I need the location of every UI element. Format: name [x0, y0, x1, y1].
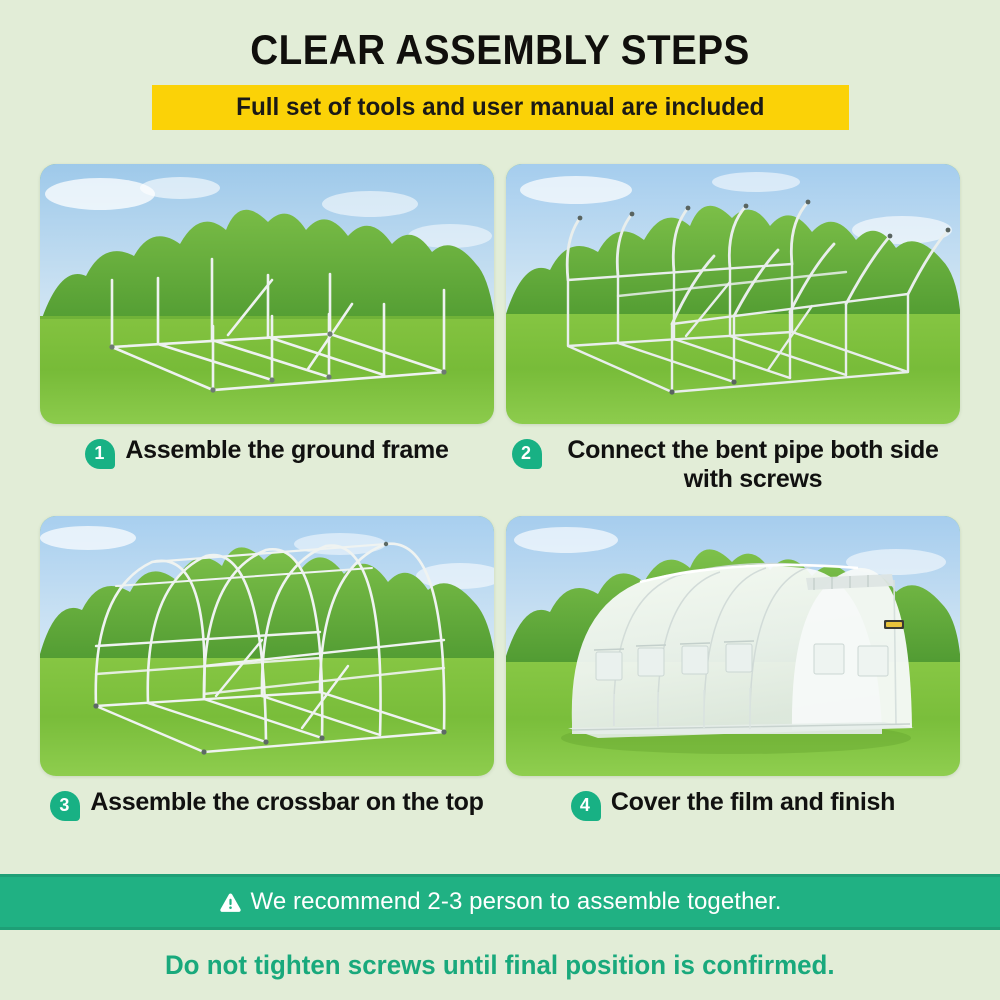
step-3-caption: 3 Assemble the crossbar on the top: [40, 788, 494, 821]
steps-row-bottom: 3 Assemble the crossbar on the top: [40, 516, 960, 821]
step-4-caption: 4 Cover the film and finish: [506, 788, 960, 821]
page-title: CLEAR ASSEMBLY STEPS: [40, 26, 960, 74]
step-4-label: Cover the film and finish: [611, 788, 895, 817]
subtitle-text: Full set of tools and user manual are in…: [236, 93, 764, 122]
step-3-photo: [40, 516, 494, 776]
footer-text: Do not tighten screws until final positi…: [165, 950, 835, 981]
step-3-number: 3: [59, 796, 69, 814]
step-2-caption: 2 Connect the bent pipe both side with s…: [506, 436, 960, 494]
step-card-4: 4 Cover the film and finish: [506, 516, 960, 821]
step-4-number: 4: [580, 796, 590, 814]
step-1-badge: 1: [85, 439, 115, 469]
step-2-badge: 2: [512, 439, 542, 469]
recommendation-text: We recommend 2-3 person to assemble toge…: [251, 888, 782, 916]
step-card-1: 1 Assemble the ground frame: [40, 164, 494, 494]
recommendation-banner: We recommend 2-3 person to assemble toge…: [0, 874, 1000, 930]
subtitle-banner: Full set of tools and user manual are in…: [152, 85, 849, 130]
step-1-number: 1: [94, 444, 104, 462]
step-card-3: 3 Assemble the crossbar on the top: [40, 516, 494, 821]
step-3-badge: 3: [50, 791, 80, 821]
step-2-label: Connect the bent pipe both side with scr…: [552, 436, 954, 494]
assembly-steps-page: CLEAR ASSEMBLY STEPS Full set of tools a…: [0, 0, 1000, 1000]
step-card-2: 2 Connect the bent pipe both side with s…: [506, 164, 960, 494]
step-3-label: Assemble the crossbar on the top: [90, 788, 483, 817]
header: CLEAR ASSEMBLY STEPS Full set of tools a…: [0, 0, 1000, 130]
step-1-photo: [40, 164, 494, 424]
footer-note: Do not tighten screws until final positi…: [0, 930, 1000, 1000]
step-2-photo: [506, 164, 960, 424]
steps-row-top: 1 Assemble the ground frame: [40, 164, 960, 494]
steps-grid: 1 Assemble the ground frame: [40, 164, 960, 821]
step-1-label: Assemble the ground frame: [125, 436, 448, 465]
step-2-number: 2: [521, 444, 531, 462]
warning-triangle-icon: [219, 891, 242, 914]
step-1-caption: 1 Assemble the ground frame: [40, 436, 494, 469]
step-4-photo: [506, 516, 960, 776]
step-4-badge: 4: [571, 791, 601, 821]
